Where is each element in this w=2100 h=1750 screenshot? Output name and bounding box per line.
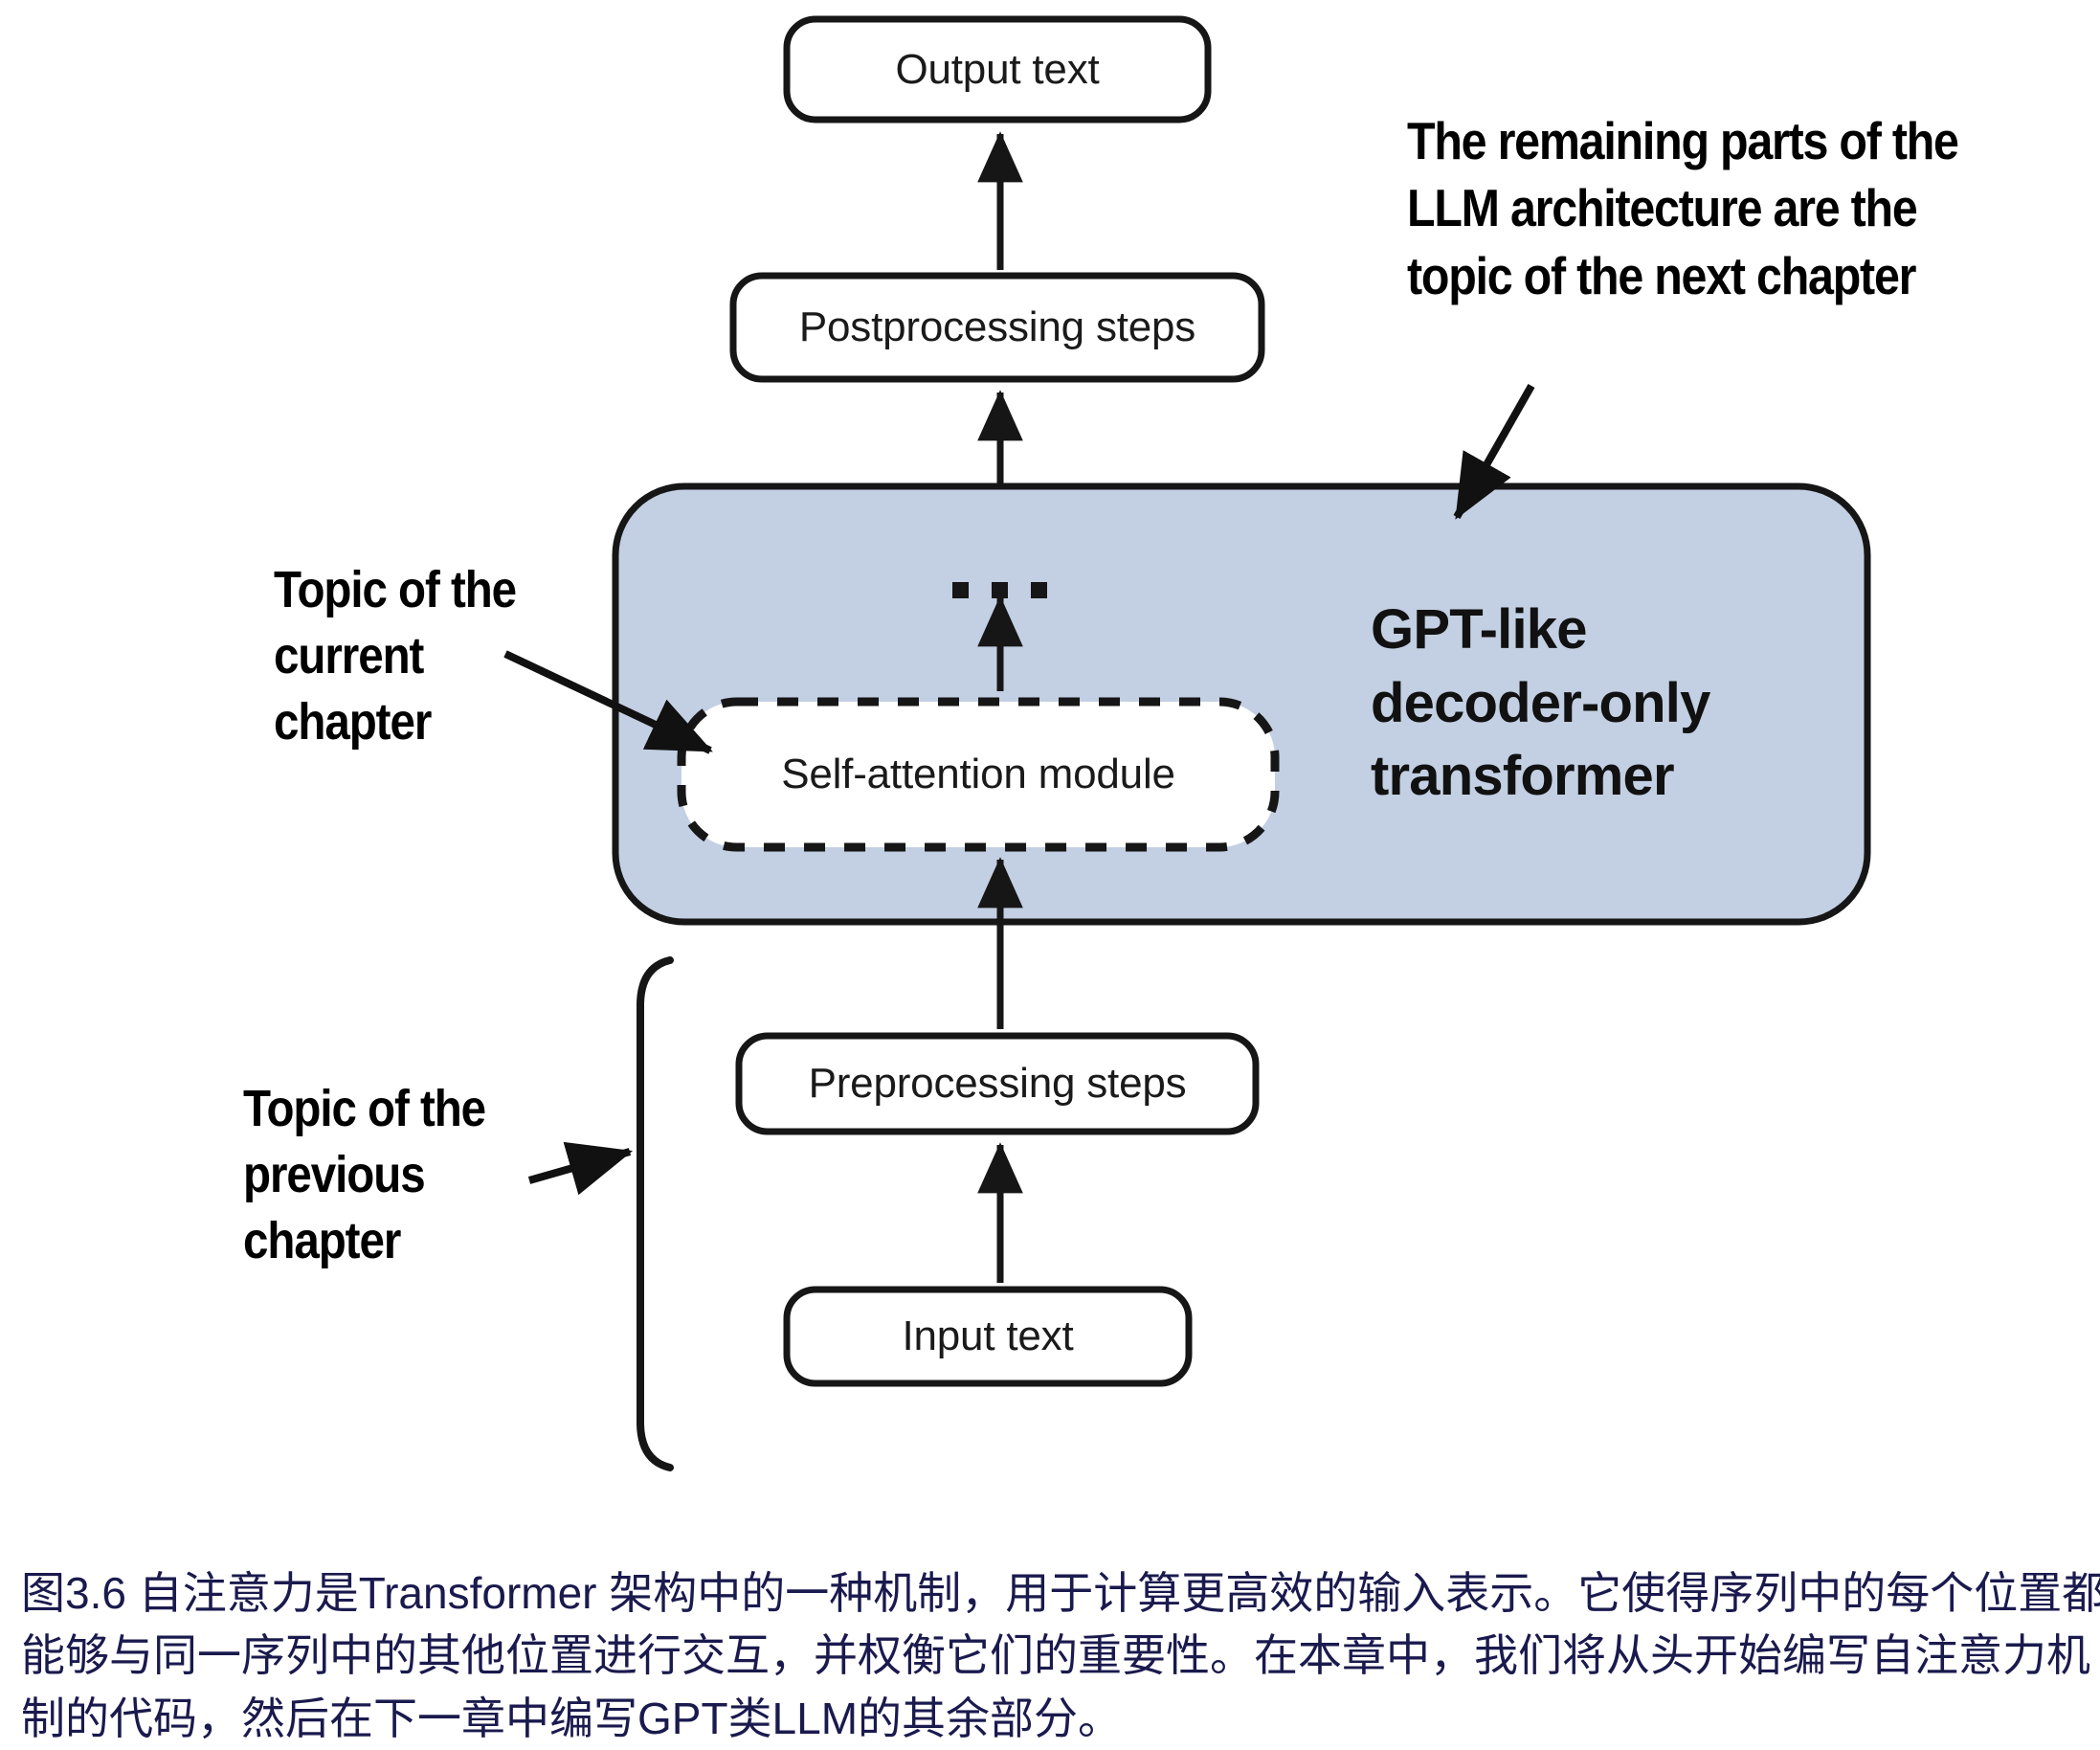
annotation-current-chapter-line3: chapter — [274, 689, 516, 755]
annotation-previous-chapter-line1: Topic of the — [243, 1076, 485, 1142]
output-text-box[interactable] — [787, 19, 1208, 120]
annotation-next-chapter-line2: LLM architecture are the — [1407, 174, 1958, 241]
preprocessing-box[interactable] — [739, 1036, 1256, 1132]
annotation-previous-chapter-line2: previous — [243, 1142, 485, 1208]
figure-caption: 图3.6 自注意力是Transformer 架构中的一种机制，用于计算更高效的输… — [21, 1562, 2089, 1750]
input-text-box[interactable] — [787, 1290, 1189, 1383]
figure-caption-line2: 能够与同一序列中的其他位置进行交互，并权衡它们的重要性。在本章中，我们将从头开始… — [21, 1625, 2089, 1687]
ellipsis-dots-icon — [952, 582, 1047, 598]
leader-previous-chapter — [529, 1152, 630, 1180]
gpt-block-label-line3: transformer — [1371, 740, 1710, 814]
annotation-current-chapter: Topic of the current chapter — [274, 557, 516, 755]
grouping-bracket — [640, 960, 670, 1468]
annotation-next-chapter: The remaining parts of the LLM architect… — [1407, 107, 1958, 309]
postprocessing-box[interactable] — [733, 276, 1262, 379]
gpt-block-label-line2: decoder-only — [1371, 667, 1710, 741]
gpt-block-label: GPT-like decoder-only transformer — [1371, 594, 1710, 814]
annotation-previous-chapter: Topic of the previous chapter — [243, 1076, 485, 1274]
annotation-current-chapter-line1: Topic of the — [274, 557, 516, 623]
figure-canvas: Output text Postprocessing steps Self-at… — [0, 0, 2100, 1748]
annotation-next-chapter-line1: The remaining parts of the — [1407, 107, 1958, 174]
annotation-current-chapter-line2: current — [274, 623, 516, 689]
annotation-previous-chapter-line3: chapter — [243, 1208, 485, 1274]
gpt-block-label-line1: GPT-like — [1371, 594, 1710, 667]
figure-caption-line3: 制的代码，然后在下一章中编写GPT类LLM的其余部分。 — [21, 1688, 2089, 1750]
annotation-next-chapter-line3: topic of the next chapter — [1407, 242, 1958, 309]
figure-caption-line1: 图3.6 自注意力是Transformer 架构中的一种机制，用于计算更高效的输… — [21, 1562, 2089, 1625]
self-attention-box[interactable] — [681, 702, 1275, 847]
